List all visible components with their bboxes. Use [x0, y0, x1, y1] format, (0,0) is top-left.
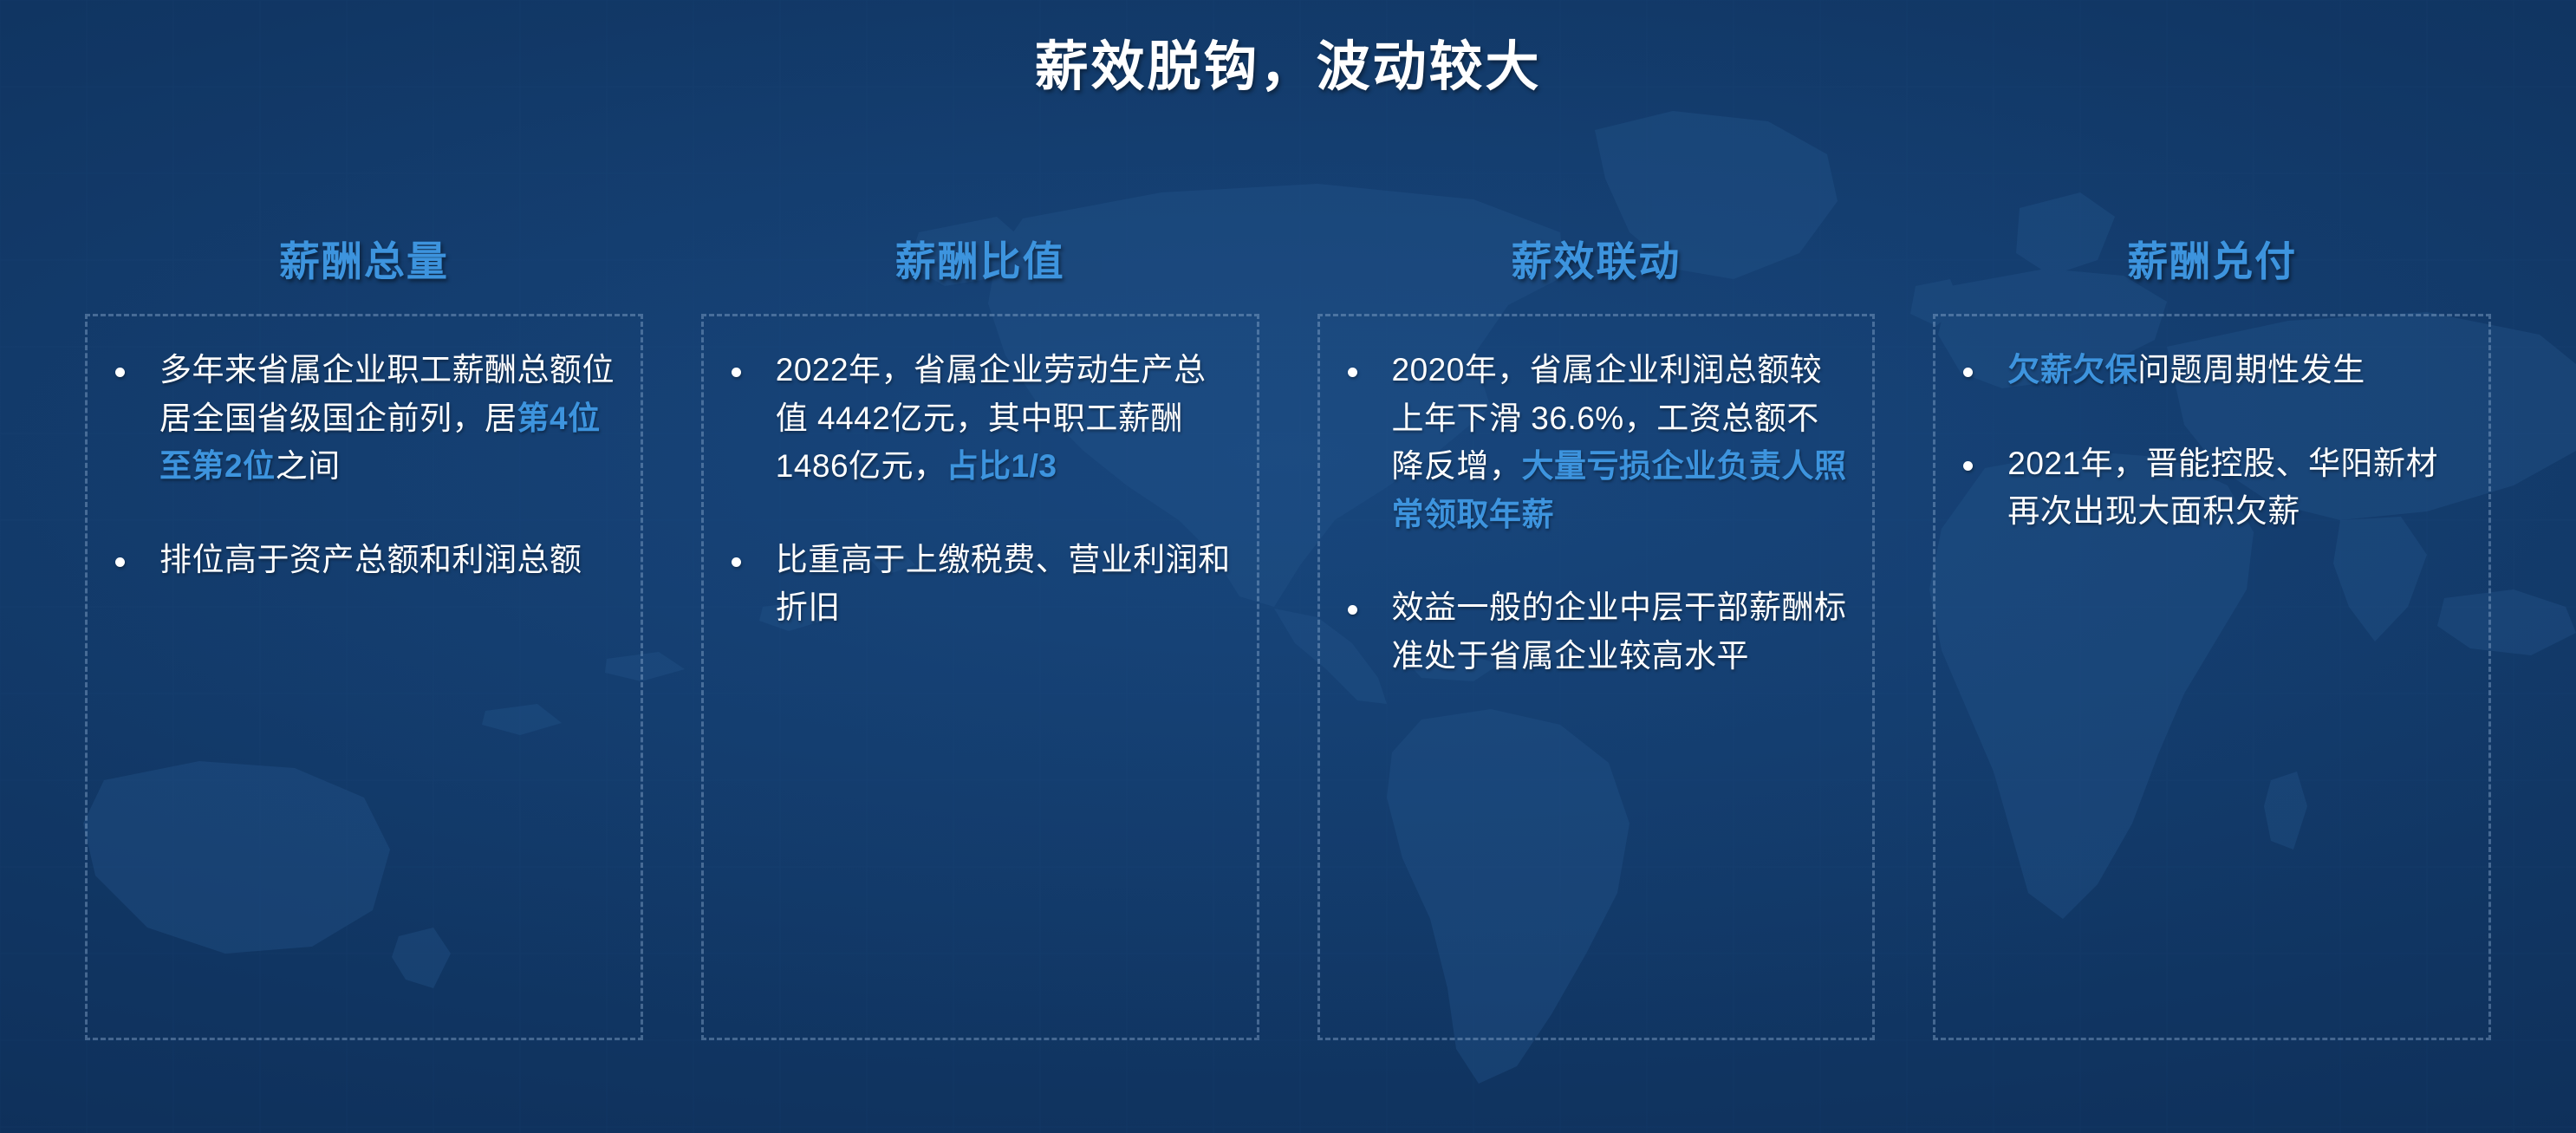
plain-text: 2021年，晋能控股、华阳新材再次出现大面积欠薪	[2007, 446, 2438, 530]
list-item: 多年来省属企业职工薪酬总额位居全国省级国企前列，居第4位至第2位之间	[110, 346, 618, 491]
bullet-dot-icon	[1963, 368, 1973, 377]
highlighted-text: 占比1/3	[946, 448, 1057, 484]
column-header: 薪酬兑付	[1933, 208, 2491, 314]
column-header: 薪酬总量	[85, 208, 643, 314]
column-3: 薪效联动2020年，省属企业利润总额较上年下滑 36.6%，工资总额不降反增，大…	[1317, 208, 1876, 1040]
bullet-dot-icon	[1963, 461, 1973, 471]
bullet-dot-icon	[732, 368, 741, 377]
list-item-text: 欠薪欠保问题周期性发生	[2007, 346, 2466, 394]
bullet-dot-icon	[115, 557, 125, 567]
bullet-dot-icon	[1348, 368, 1357, 377]
column-header: 薪效联动	[1317, 208, 1876, 314]
column-4: 薪酬兑付欠薪欠保问题周期性发生2021年，晋能控股、华阳新材再次出现大面积欠薪	[1933, 208, 2491, 1040]
list-item: 排位高于资产总额和利润总额	[110, 536, 618, 584]
bullet-dot-icon	[115, 368, 125, 377]
list-item-text: 2022年，省属企业劳动生产总值 4442亿元，其中职工薪酬1486亿元，占比1…	[776, 346, 1234, 491]
column-body-box: 欠薪欠保问题周期性发生2021年，晋能控股、华阳新材再次出现大面积欠薪	[1933, 314, 2491, 1040]
list-item: 比重高于上缴税费、营业利润和折旧	[726, 536, 1234, 632]
column-body-box: 多年来省属企业职工薪酬总额位居全国省级国企前列，居第4位至第2位之间排位高于资产…	[85, 314, 643, 1040]
plain-text: 排位高于资产总额和利润总额	[159, 542, 582, 577]
list-item: 2020年，省属企业利润总额较上年下滑 36.6%，工资总额不降反增，大量亏损企…	[1343, 346, 1851, 538]
list-item-text: 排位高于资产总额和利润总额	[159, 536, 618, 584]
list-item-text: 比重高于上缴税费、营业利润和折旧	[776, 536, 1234, 632]
highlighted-text: 欠薪欠保	[2007, 352, 2137, 387]
column-2: 薪酬比值2022年，省属企业劳动生产总值 4442亿元，其中职工薪酬1486亿元…	[701, 208, 1259, 1040]
plain-text: 问题周期性发生	[2137, 352, 2365, 387]
bullet-list: 2020年，省属企业利润总额较上年下滑 36.6%，工资总额不降反增，大量亏损企…	[1343, 346, 1851, 680]
list-item: 2021年，晋能控股、华阳新材再次出现大面积欠薪	[1958, 440, 2466, 536]
bullet-list: 2022年，省属企业劳动生产总值 4442亿元，其中职工薪酬1486亿元，占比1…	[726, 346, 1234, 632]
plain-text: 之间	[276, 448, 341, 484]
bullet-list: 多年来省属企业职工薪酬总额位居全国省级国企前列，居第4位至第2位之间排位高于资产…	[110, 346, 618, 583]
column-body-box: 2020年，省属企业利润总额较上年下滑 36.6%，工资总额不降反增，大量亏损企…	[1317, 314, 1876, 1040]
bullet-dot-icon	[1348, 605, 1357, 615]
plain-text: 效益一般的企业中层干部薪酬标准处于省属企业较高水平	[1392, 589, 1847, 674]
list-item-text: 2021年，晋能控股、华阳新材再次出现大面积欠薪	[2007, 440, 2466, 536]
column-body-box: 2022年，省属企业劳动生产总值 4442亿元，其中职工薪酬1486亿元，占比1…	[701, 314, 1259, 1040]
list-item: 2022年，省属企业劳动生产总值 4442亿元，其中职工薪酬1486亿元，占比1…	[726, 346, 1234, 491]
bullet-list: 欠薪欠保问题周期性发生2021年，晋能控股、华阳新材再次出现大面积欠薪	[1958, 346, 2466, 536]
list-item: 效益一般的企业中层干部薪酬标准处于省属企业较高水平	[1343, 583, 1851, 680]
columns-container: 薪酬总量多年来省属企业职工薪酬总额位居全国省级国企前列，居第4位至第2位之间排位…	[85, 208, 2491, 1040]
column-header: 薪酬比值	[701, 208, 1259, 314]
list-item: 欠薪欠保问题周期性发生	[1958, 346, 2466, 394]
bullet-dot-icon	[732, 557, 741, 567]
list-item-text: 效益一般的企业中层干部薪酬标准处于省属企业较高水平	[1392, 583, 1851, 680]
list-item-text: 2020年，省属企业利润总额较上年下滑 36.6%，工资总额不降反增，大量亏损企…	[1392, 346, 1851, 538]
column-1: 薪酬总量多年来省属企业职工薪酬总额位居全国省级国企前列，居第4位至第2位之间排位…	[85, 208, 643, 1040]
slide-root: 薪效脱钩，波动较大 薪酬总量多年来省属企业职工薪酬总额位居全国省级国企前列，居第…	[0, 0, 2576, 1133]
list-item-text: 多年来省属企业职工薪酬总额位居全国省级国企前列，居第4位至第2位之间	[159, 346, 618, 491]
page-title: 薪效脱钩，波动较大	[0, 23, 2576, 101]
plain-text: 比重高于上缴税费、营业利润和折旧	[776, 542, 1231, 626]
